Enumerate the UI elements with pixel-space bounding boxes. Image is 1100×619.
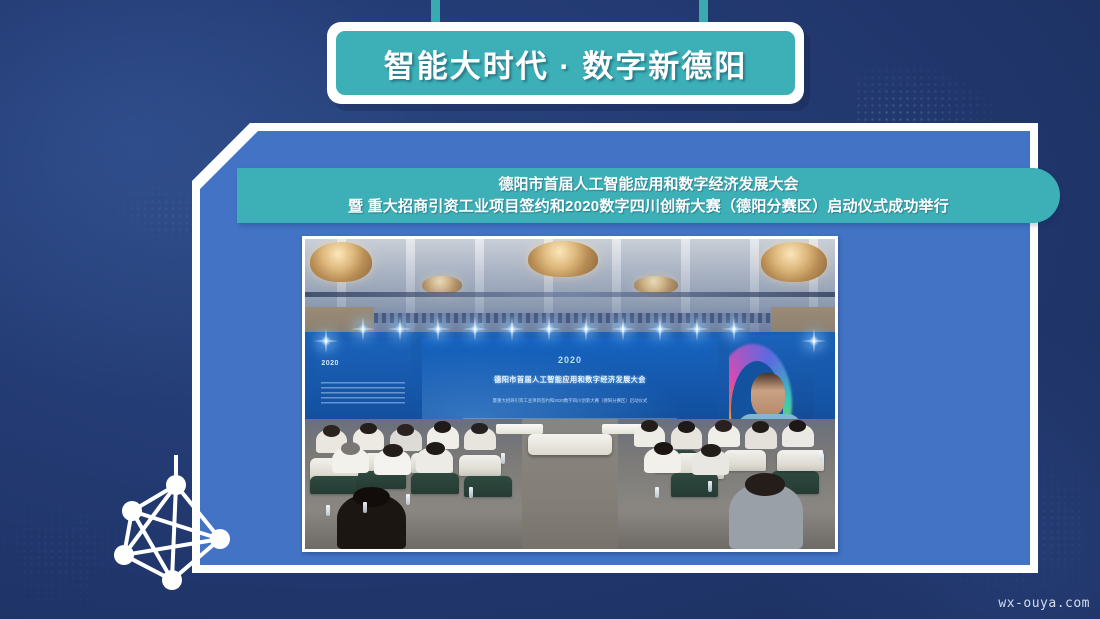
led-side-year: 2020 bbox=[321, 360, 339, 367]
title-banner: 智能大时代 · 数字新德阳 bbox=[327, 22, 804, 104]
poster-canvas: 智能大时代 · 数字新德阳 德阳市首届人工智能应用和数字经济发展大会 暨 重大招… bbox=[0, 0, 1100, 619]
audience-area bbox=[305, 419, 835, 549]
chandelier bbox=[528, 241, 598, 277]
led-subtitle: 暨重大招商引资工业项目签约和2020数字四川创新大赛（德阳分赛区）启动仪式 bbox=[451, 398, 688, 404]
vip-sofa bbox=[528, 434, 613, 455]
site-watermark: wx-ouya.com bbox=[998, 596, 1090, 611]
chandelier bbox=[761, 242, 827, 282]
subtitle-banner: 德阳市首届人工智能应用和数字经济发展大会 暨 重大招商引资工业项目签约和2020… bbox=[237, 168, 1060, 223]
vip-table bbox=[496, 424, 544, 434]
title-banner-inner: 智能大时代 · 数字新德阳 bbox=[336, 31, 795, 95]
conference-photo: 2020 2020 德阳市首届人工智能应用和数字经济发展大会 暨重大招商引资工业… bbox=[305, 239, 835, 549]
lighting-rail bbox=[305, 292, 835, 297]
led-side-text bbox=[321, 382, 405, 404]
led-title: 德阳市首届人工智能应用和数字经济发展大会 bbox=[445, 375, 694, 385]
conference-photo-frame: 2020 2020 德阳市首届人工智能应用和数字经济发展大会 暨重大招商引资工业… bbox=[302, 236, 838, 552]
chandelier bbox=[310, 242, 372, 282]
subtitle-line-1: 德阳市首届人工智能应用和数字经济发展大会 bbox=[498, 174, 798, 196]
subtitle-line-2: 暨 重大招商引资工业项目签约和2020数字四川创新大赛（德阳分赛区）启动仪式成功… bbox=[348, 196, 949, 218]
page-title: 智能大时代 · 数字新德阳 bbox=[384, 41, 748, 86]
led-year: 2020 bbox=[422, 355, 719, 365]
molecule-network-icon bbox=[112, 455, 240, 590]
speaker-head bbox=[751, 373, 785, 417]
